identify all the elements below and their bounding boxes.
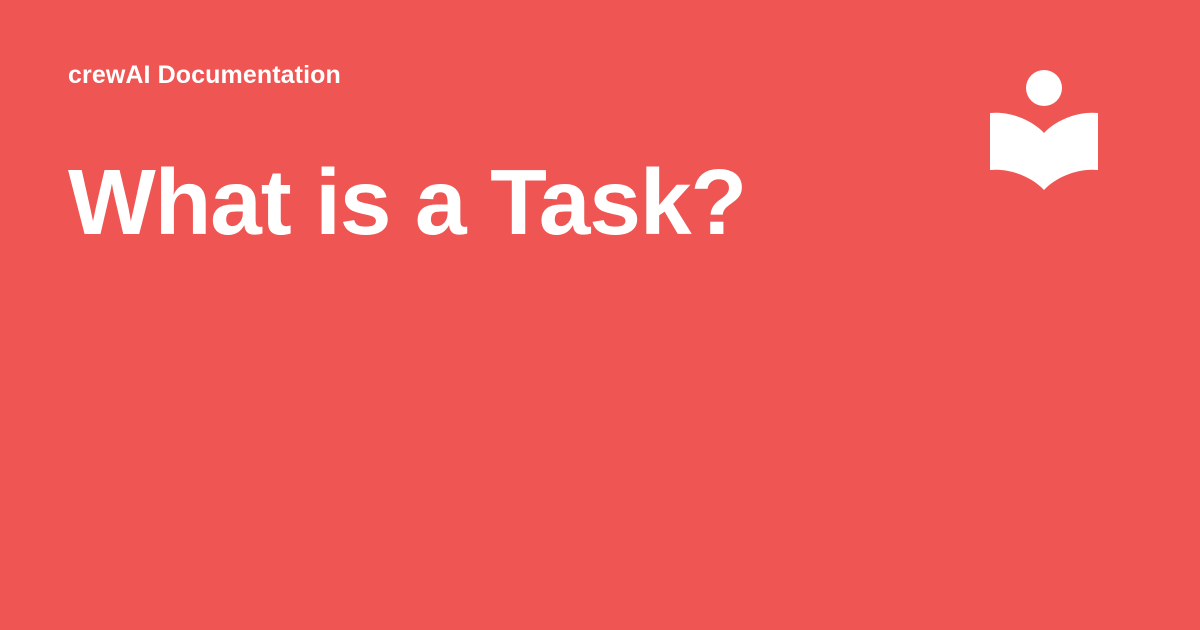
site-name: crewAI Documentation xyxy=(68,60,948,90)
book-reader-logo-icon xyxy=(984,62,1104,198)
social-card: crewAI Documentation What is a Task? xyxy=(0,0,1200,630)
page-title: What is a Task? xyxy=(68,156,948,249)
card-text-block: crewAI Documentation What is a Task? xyxy=(68,60,948,249)
